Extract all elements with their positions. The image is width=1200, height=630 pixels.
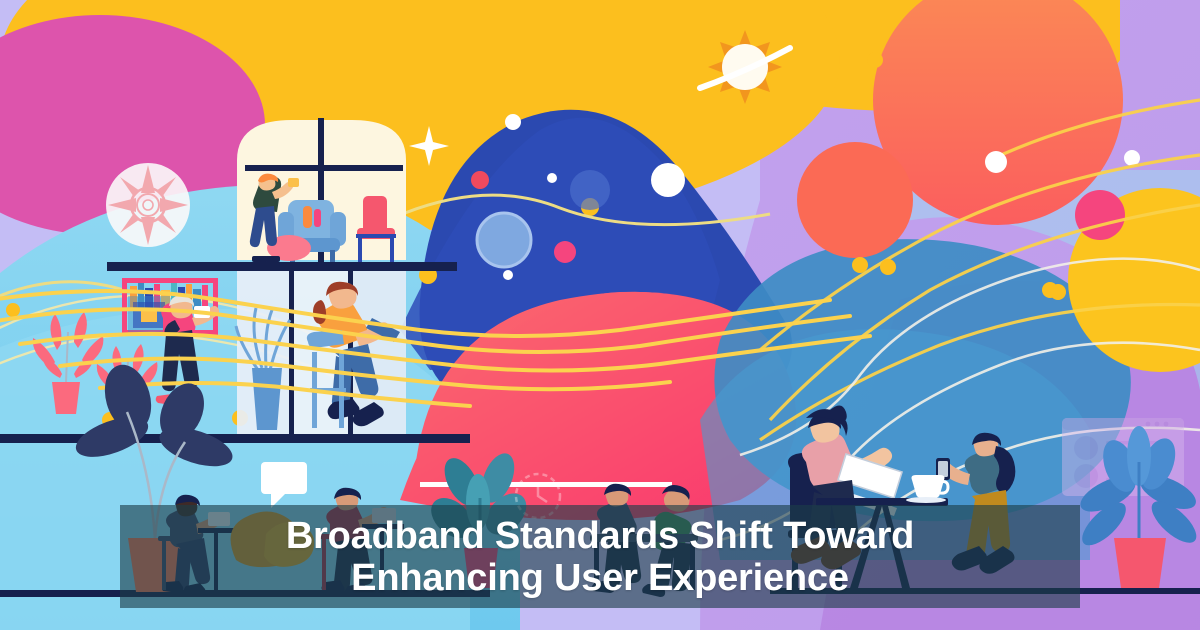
title-backdrop: Broadband Standards Shift Toward Enhanci… — [120, 505, 1080, 608]
page-title: Broadband Standards Shift Toward Enhanci… — [276, 515, 924, 599]
banner-image: Broadband Standards Shift Toward Enhanci… — [0, 0, 1200, 630]
